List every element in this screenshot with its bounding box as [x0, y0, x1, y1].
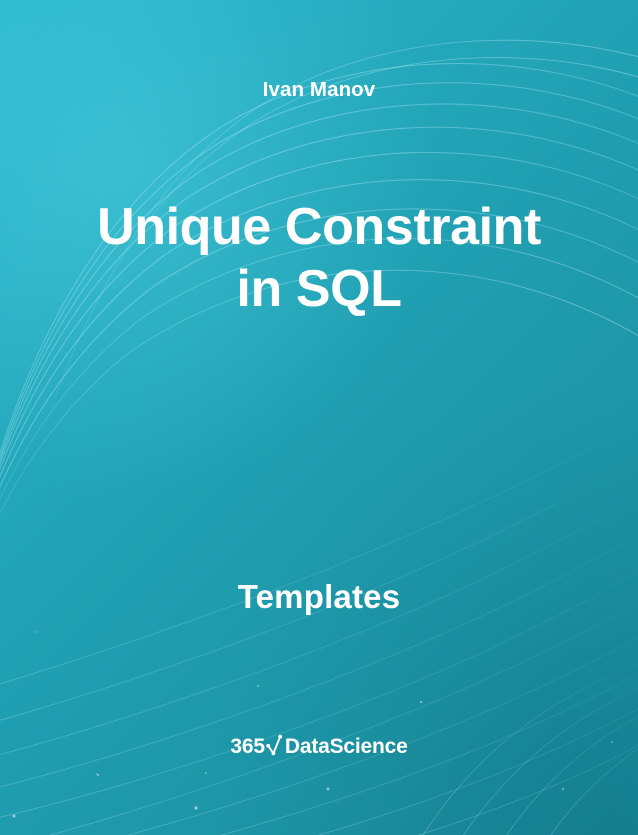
cover-title-line-1: Unique Constraint	[0, 196, 638, 258]
brand-logo-number: 365	[230, 736, 264, 757]
cover-title: Unique Constraint in SQL	[0, 196, 638, 321]
book-cover: Ivan Manov Unique Constraint in SQL Temp…	[0, 0, 638, 835]
cover-title-line-2: in SQL	[0, 258, 638, 320]
author-name: Ivan Manov	[0, 77, 638, 103]
cover-content: Ivan Manov Unique Constraint in SQL Temp…	[0, 0, 638, 835]
cover-subtitle: Templates	[0, 578, 638, 616]
brand-logo: 365 DataScience	[0, 735, 638, 757]
brand-logo-name: DataScience	[285, 736, 408, 757]
radical-checkmark-icon	[266, 734, 283, 756]
